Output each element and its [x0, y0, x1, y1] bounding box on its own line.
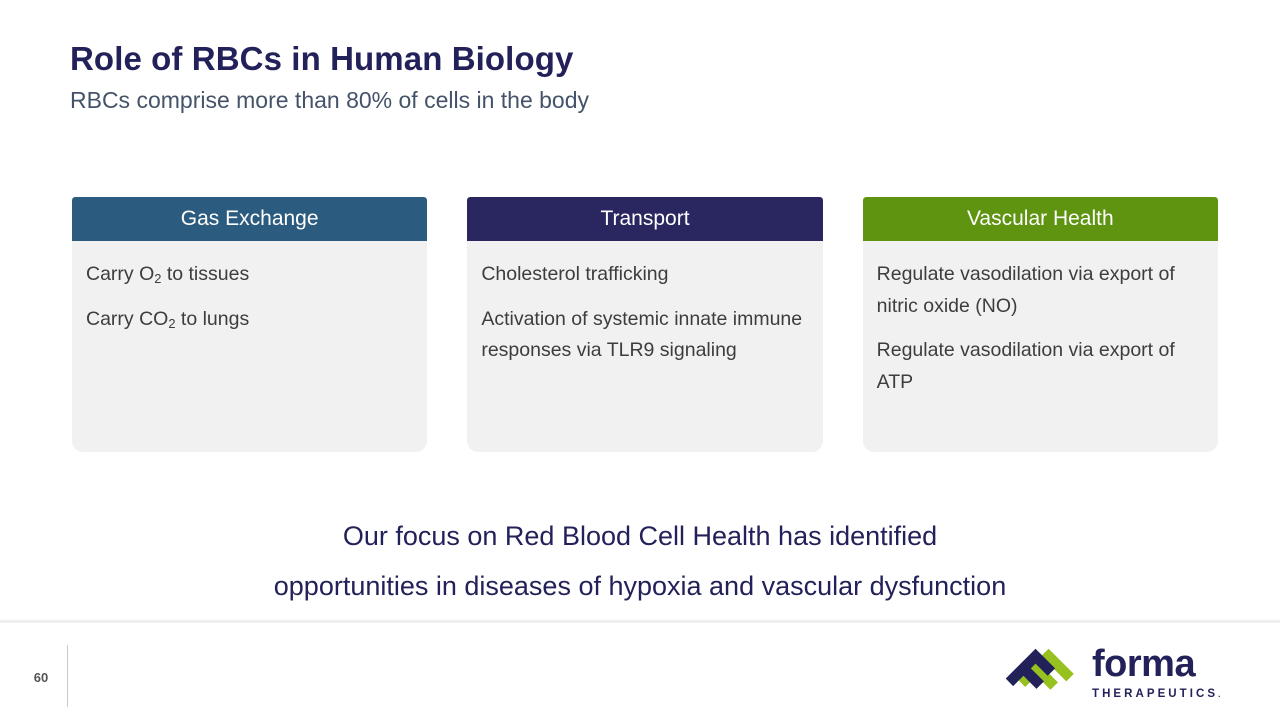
page-number: 60	[24, 670, 58, 685]
card-header-vascular-health: Vascular Health	[863, 197, 1218, 241]
forma-therapeutics-logo: forma THERAPEUTICS.	[1006, 640, 1222, 706]
forma-trademark: .	[1218, 690, 1220, 699]
card-body-gas-exchange: Carry O2 to tissues Carry CO2 to lungs	[72, 241, 427, 452]
summary-statement-line-1: Our focus on Red Blood Cell Health has i…	[0, 512, 1280, 562]
footer-divider	[0, 619, 1280, 623]
summary-statement-line-2: opportunities in diseases of hypoxia and…	[0, 562, 1280, 612]
summary-statement: Our focus on Red Blood Cell Health has i…	[0, 512, 1280, 611]
card-body-transport: Cholesterol trafficking Activation of sy…	[467, 241, 822, 452]
card-transport: Transport Cholesterol trafficking Activa…	[467, 197, 822, 452]
bullet-subscript: 2	[168, 316, 175, 331]
bullet-text: Carry CO	[86, 308, 168, 330]
forma-tagline: THERAPEUTICS.	[1092, 688, 1220, 700]
bullet-item: Cholesterol trafficking	[481, 259, 808, 291]
bullet-item: Carry CO2 to lungs	[86, 304, 413, 336]
slide: Role of RBCs in Human Biology RBCs compr…	[0, 0, 1280, 720]
bullet-item: Activation of systemic innate immune res…	[481, 304, 808, 367]
bullet-text: Carry O	[86, 263, 154, 285]
bullet-text-tail: to lungs	[176, 308, 250, 330]
page-title: Role of RBCs in Human Biology	[70, 40, 573, 78]
bullet-item: Regulate vasodilation via export of ATP	[877, 335, 1204, 398]
bullet-subscript: 2	[154, 271, 161, 286]
card-vascular-health: Vascular Health Regulate vasodilation vi…	[863, 197, 1218, 452]
card-gas-exchange: Gas Exchange Carry O2 to tissues Carry C…	[72, 197, 427, 452]
page-subtitle: RBCs comprise more than 80% of cells in …	[70, 87, 589, 114]
bullet-item: Regulate vasodilation via export of nitr…	[877, 259, 1204, 322]
card-row: Gas Exchange Carry O2 to tissues Carry C…	[72, 197, 1218, 452]
forma-tagline-text: THERAPEUTICS	[1092, 688, 1218, 700]
bullet-text-tail: to tissues	[161, 263, 249, 285]
forma-logo-mark-icon	[1006, 640, 1080, 706]
forma-wordmark: forma	[1092, 646, 1220, 683]
page-number-divider	[67, 645, 68, 707]
forma-logo-text: forma THERAPEUTICS.	[1092, 646, 1220, 699]
card-header-gas-exchange: Gas Exchange	[72, 197, 427, 241]
card-body-vascular-health: Regulate vasodilation via export of nitr…	[863, 241, 1218, 452]
bullet-item: Carry O2 to tissues	[86, 259, 413, 291]
card-header-transport: Transport	[467, 197, 822, 241]
